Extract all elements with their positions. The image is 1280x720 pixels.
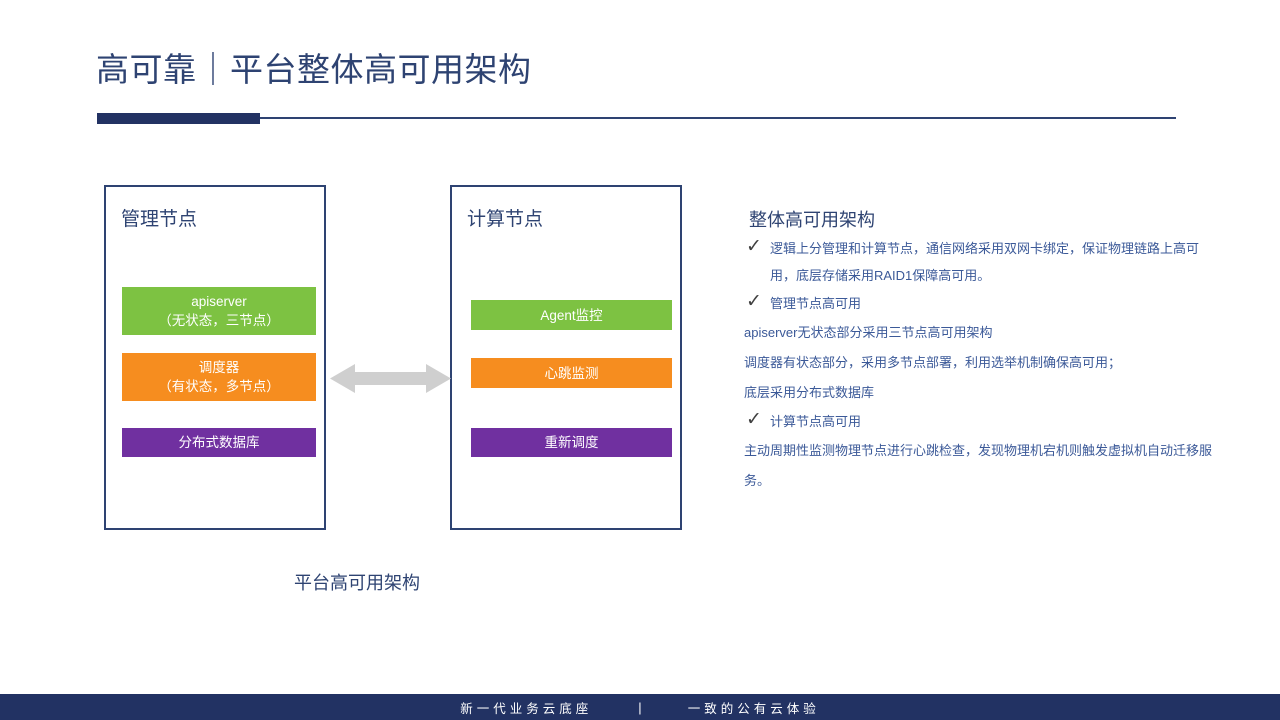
list-item-text: 逻辑上分管理和计算节点，通信网络采用双网卡绑定，保证物理链路上高可用，底层存储采…: [770, 235, 1224, 289]
list-item-text: 计算节点高可用: [770, 408, 1224, 435]
page-title: 高可靠｜平台整体高可用架构: [96, 48, 532, 92]
list-item: ✓ 计算节点高可用: [744, 408, 1224, 435]
panel-heading: 整体高可用架构: [749, 207, 1224, 233]
chip-agent-monitor-label: Agent监控: [540, 306, 602, 325]
management-node-title: 管理节点: [121, 207, 197, 233]
check-icon: ✓: [744, 408, 770, 432]
chip-apiserver-line1: apiserver: [191, 292, 247, 311]
chip-heartbeat-monitor-label: 心跳监测: [545, 364, 599, 383]
footer-content: 新一代业务云底座 | 一致的公有云体验: [0, 694, 1280, 720]
chip-reschedule-label: 重新调度: [545, 433, 599, 452]
list-item-text: 管理节点高可用: [770, 290, 1224, 317]
chip-reschedule: 重新调度: [471, 428, 672, 457]
chip-apiserver-line2: （无状态，三节点）: [158, 311, 280, 330]
title-underline: [97, 113, 1176, 125]
chip-distributed-database: 分布式数据库: [122, 428, 316, 457]
chip-apiserver: apiserver （无状态，三节点）: [122, 287, 316, 335]
chip-scheduler-line2: （有状态，多节点）: [158, 377, 280, 396]
list-item: ✓ 管理节点高可用: [744, 290, 1224, 317]
title-accent-line: [260, 117, 1176, 119]
chip-heartbeat-monitor: 心跳监测: [471, 358, 672, 388]
slide-canvas: 高可靠｜平台整体高可用架构 管理节点 apiserver （无状态，三节点） 调…: [0, 0, 1280, 720]
panel-paragraph: 主动周期性监测物理节点进行心跳检查，发现物理机宕机则触发虚拟机自动迁移服务。: [744, 436, 1224, 496]
panel-paragraph: apiserver无状态部分采用三节点高可用架构: [744, 318, 1224, 348]
list-item: ✓ 逻辑上分管理和计算节点，通信网络采用双网卡绑定，保证物理链路上高可用，底层存…: [744, 235, 1224, 289]
check-icon: ✓: [744, 290, 770, 314]
chip-scheduler: 调度器 （有状态，多节点）: [122, 353, 316, 401]
compute-node-title: 计算节点: [467, 207, 543, 233]
panel-paragraph: 底层采用分布式数据库: [744, 378, 1224, 408]
chip-agent-monitor: Agent监控: [471, 300, 672, 330]
panel-paragraph: 调度器有状态部分，采用多节点部署，利用选举机制确保高可用；: [744, 348, 1224, 378]
footer-right-text: 一致的公有云体验: [688, 698, 820, 717]
chip-scheduler-line1: 调度器: [199, 358, 240, 377]
chip-distributed-database-label: 分布式数据库: [179, 433, 260, 452]
diagram-caption: 平台高可用架构: [294, 570, 420, 596]
double-arrow-icon: [330, 363, 451, 394]
footer-bar: 新一代业务云底座 | 一致的公有云体验: [0, 694, 1280, 720]
check-icon: ✓: [744, 235, 770, 259]
title-accent-block: [97, 113, 260, 124]
architecture-text-panel: 整体高可用架构 ✓ 逻辑上分管理和计算节点，通信网络采用双网卡绑定，保证物理链路…: [744, 207, 1224, 496]
footer-left-text: 新一代业务云底座: [460, 698, 592, 717]
footer-separator: |: [638, 700, 641, 715]
